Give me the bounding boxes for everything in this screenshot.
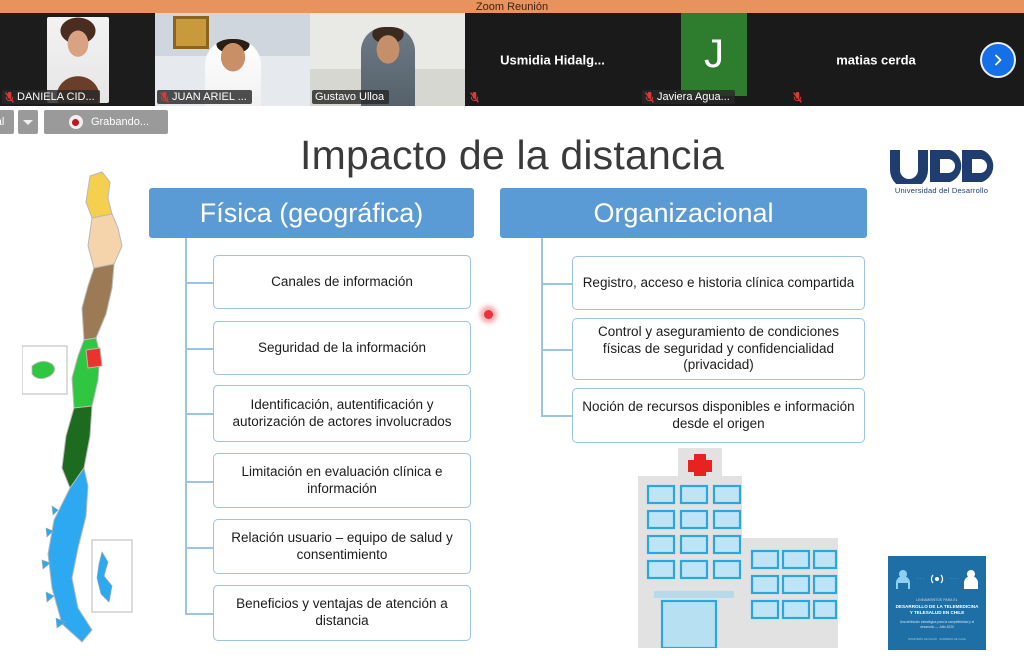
microphone-muted-icon (793, 92, 802, 103)
column-header-label: Física (geográfica) (200, 198, 424, 229)
column-header-organizacional: Organizacional (500, 188, 867, 238)
list-item[interactable]: Control y aseguramiento de condiciones f… (572, 318, 865, 380)
recording-status-button[interactable]: Grabando... (44, 110, 168, 134)
connector-trunk-right (541, 238, 543, 415)
avatar: J (681, 13, 747, 96)
participant-name: JUAN ARIEL ... (172, 91, 247, 103)
connector-branch (185, 613, 213, 615)
participant-tile-juan-ariel[interactable]: JUAN ARIEL ... (155, 13, 310, 106)
column-header-label: Organizacional (593, 198, 773, 229)
doc-kicker: LINEAMIENTOS PARA EL (894, 598, 980, 602)
chile-map-graphic (22, 168, 162, 648)
participant-name: Usmidia Hidalg... (465, 52, 640, 67)
connector-branch (185, 547, 213, 549)
zoom-meeting-window: Zoom Reunión DANIELA CID... (0, 0, 1024, 658)
udd-logo-subtitle: Universidad del Desarrollo (884, 186, 999, 195)
document-thumbnail[interactable]: · · · · · · LINEAMIENTOS PARA EL DESARRO… (888, 556, 986, 650)
connector-branch (541, 349, 572, 351)
participant-mute-badge (467, 91, 484, 104)
participant-tile-daniela[interactable]: DANIELA CID... (0, 13, 155, 106)
meeting-control-toolbar: al Grabando... (0, 106, 1024, 138)
participant-name-badge: JUAN ARIEL ... (157, 90, 252, 104)
participant-name: Javiera Agua... (657, 91, 730, 103)
participant-tile-matias-cerda[interactable]: matias cerda (788, 13, 964, 106)
list-item[interactable]: Identificación, autentificación y autori… (213, 385, 471, 442)
doc-subtitle: Una definición estratégica para la compe… (894, 620, 980, 630)
laser-pointer-dot (484, 310, 493, 319)
connector-branch (185, 282, 213, 284)
doc-title: DESARROLLO DE LA TELEMEDICINA Y TELESALU… (894, 604, 980, 616)
list-item[interactable]: Canales de información (213, 255, 471, 309)
chevron-right-icon (991, 53, 1005, 67)
microphone-muted-icon (160, 92, 169, 103)
hospital-building-illustration (630, 448, 845, 648)
microphone-muted-icon (470, 92, 479, 103)
list-item[interactable]: Relación usuario – equipo de salud y con… (213, 519, 471, 574)
window-titlebar: Zoom Reunión (0, 0, 1024, 13)
microphone-muted-icon (5, 92, 14, 103)
participant-name-badge: DANIELA CID... (2, 90, 100, 104)
connector-branch (185, 413, 213, 415)
filmstrip-next-page-area (964, 13, 1024, 106)
participant-tile-gustavo-ulloa[interactable]: Gustavo Ulloa (310, 13, 465, 106)
list-item[interactable]: Registro, acceso e historia clínica comp… (572, 256, 865, 310)
udd-logo-icon (886, 148, 998, 184)
participant-name-badge: Javiera Agua... (642, 90, 735, 104)
chile-map (22, 168, 162, 648)
person-right-icon (963, 569, 979, 589)
window-title: Zoom Reunión (476, 2, 548, 13)
connector-branch (185, 481, 213, 483)
hospital-icon (630, 448, 845, 648)
recording-label: Grabando... (91, 116, 149, 128)
participant-name-badge: Gustavo Ulloa (312, 90, 389, 104)
signal-tower-icon (929, 571, 945, 587)
list-item[interactable]: Limitación en evaluación clínica e infor… (213, 453, 471, 508)
doc-thumbnail-icons: · · · · · · (894, 563, 980, 595)
list-item[interactable]: Noción de recursos disponibles e informa… (572, 388, 865, 443)
list-item[interactable]: Seguridad de la información (213, 321, 471, 375)
person-left-icon (895, 569, 911, 589)
dots-right: · · · (950, 576, 958, 582)
udd-logo: Universidad del Desarrollo (884, 148, 999, 195)
column-header-fisica: Física (geográfica) (149, 188, 474, 238)
participant-name: Gustavo Ulloa (315, 91, 384, 103)
shared-slide: Impacto de la distancia Universidad del … (0, 138, 1024, 658)
toolbar-dropdown-button[interactable] (18, 110, 38, 134)
dots-left: · · · (916, 576, 924, 582)
chevron-down-icon (23, 120, 33, 125)
participant-tile-javiera-aguayo[interactable]: J Javiera Agua... (640, 13, 788, 106)
doc-footer: MINISTERIO DE SALUD · GOBIERNO DE CHILE (894, 638, 980, 641)
connector-trunk-left (185, 238, 187, 613)
participant-name: DANIELA CID... (17, 91, 95, 103)
connector-branch (185, 348, 213, 350)
participant-mute-badge (790, 91, 807, 104)
connector-branch (541, 283, 572, 285)
record-icon (69, 115, 83, 129)
list-item[interactable]: Beneficios y ventajas de atención a dist… (213, 585, 471, 641)
participant-name: matias cerda (788, 52, 964, 67)
toolbar-truncated-button[interactable]: al (0, 110, 14, 134)
next-page-button[interactable] (980, 42, 1016, 78)
participant-filmstrip: DANIELA CID... JUAN ARIEL ... Gustavo Ul… (0, 13, 1024, 106)
connector-branch (541, 415, 572, 417)
participant-tile-usmidia-hidalgo[interactable]: Usmidia Hidalg... (465, 13, 640, 106)
microphone-muted-icon (645, 92, 654, 103)
